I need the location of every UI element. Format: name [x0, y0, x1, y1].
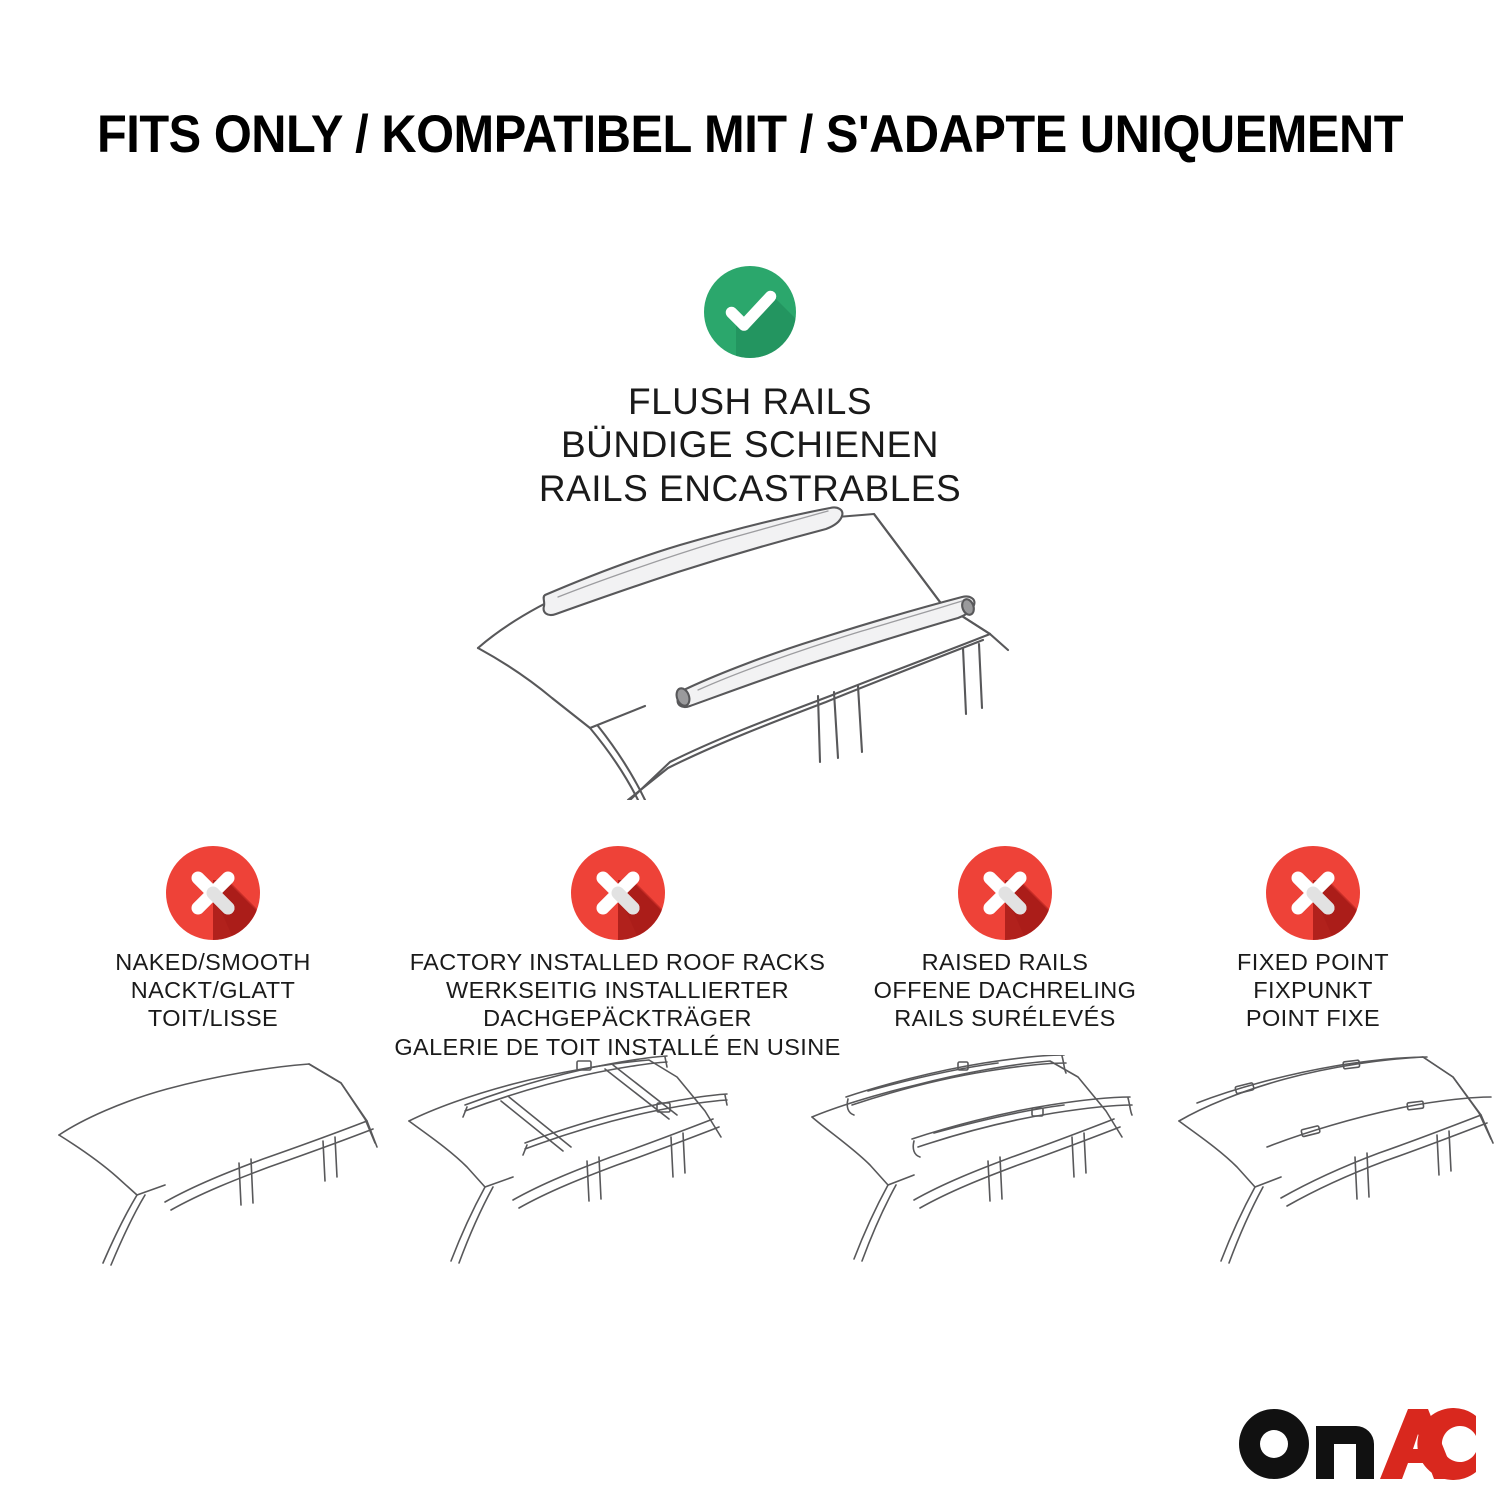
compatible-label-de: BÜNDIGE SCHIENEN	[0, 423, 1500, 466]
car-roof-factory-roof-racks-illustration	[405, 1055, 745, 1280]
incompatible-item-fixed-point: FIXED POINT FIXPUNKT POINT FIXE	[1168, 846, 1458, 1033]
compatible-label-en: FLUSH RAILS	[0, 380, 1500, 423]
label-fr: TOIT/LISSE	[23, 1004, 403, 1032]
incompatible-labels: FACTORY INSTALLED ROOF RACKS WERKSEITIG …	[390, 948, 845, 1061]
incompatible-section: NAKED/SMOOTH NACKT/GLATT TOIT/LISSE	[0, 846, 1500, 1076]
page-title: FITS ONLY / KOMPATIBEL MIT / S'ADAPTE UN…	[60, 104, 1440, 165]
label-fr: RAILS SURÉLEVÉS	[840, 1004, 1170, 1032]
cross-circle-icon	[1266, 846, 1360, 940]
label-fr: POINT FIXE	[1168, 1004, 1458, 1032]
cross-circle-icon	[166, 846, 260, 940]
car-roof-fixed-point-illustration	[1175, 1055, 1500, 1280]
label-de-1: WERKSEITIG INSTALLIERTER	[390, 976, 845, 1004]
incompatible-labels: NAKED/SMOOTH NACKT/GLATT TOIT/LISSE	[23, 948, 403, 1033]
car-roof-with-flush-rails-illustration	[470, 500, 1030, 800]
compatible-labels: FLUSH RAILS BÜNDIGE SCHIENEN RAILS ENCAS…	[0, 380, 1500, 510]
compatible-section: FLUSH RAILS BÜNDIGE SCHIENEN RAILS ENCAS…	[0, 258, 1500, 510]
label-en: FACTORY INSTALLED ROOF RACKS	[390, 948, 845, 976]
label-de: OFFENE DACHRELING	[840, 976, 1170, 1004]
label-de: FIXPUNKT	[1168, 976, 1458, 1004]
label-de-2: DACHGEPÄCKTRÄGER	[390, 1004, 845, 1032]
incompatible-labels: FIXED POINT FIXPUNKT POINT FIXE	[1168, 948, 1458, 1033]
incompatible-item-naked-smooth: NAKED/SMOOTH NACKT/GLATT TOIT/LISSE	[23, 846, 403, 1033]
check-circle-icon	[696, 258, 804, 366]
label-en: FIXED POINT	[1168, 948, 1458, 976]
incompatible-item-raised-rails: RAISED RAILS OFFENE DACHRELING RAILS SUR…	[840, 846, 1170, 1033]
logo-letter-o	[1239, 1409, 1309, 1479]
cross-circle-icon	[958, 846, 1052, 940]
label-de: NACKT/GLATT	[23, 976, 403, 1004]
logo-letter-m	[1316, 1426, 1374, 1479]
cross-circle-icon	[571, 846, 665, 940]
incompatible-labels: RAISED RAILS OFFENE DACHRELING RAILS SUR…	[840, 948, 1170, 1033]
omac-logo	[1238, 1408, 1476, 1480]
car-roof-naked-smooth-illustration	[55, 1055, 385, 1280]
incompatible-item-factory-roof-racks: FACTORY INSTALLED ROOF RACKS WERKSEITIG …	[390, 846, 845, 1061]
label-en: NAKED/SMOOTH	[23, 948, 403, 976]
label-en: RAISED RAILS	[840, 948, 1170, 976]
car-roof-raised-rails-illustration	[808, 1055, 1148, 1280]
